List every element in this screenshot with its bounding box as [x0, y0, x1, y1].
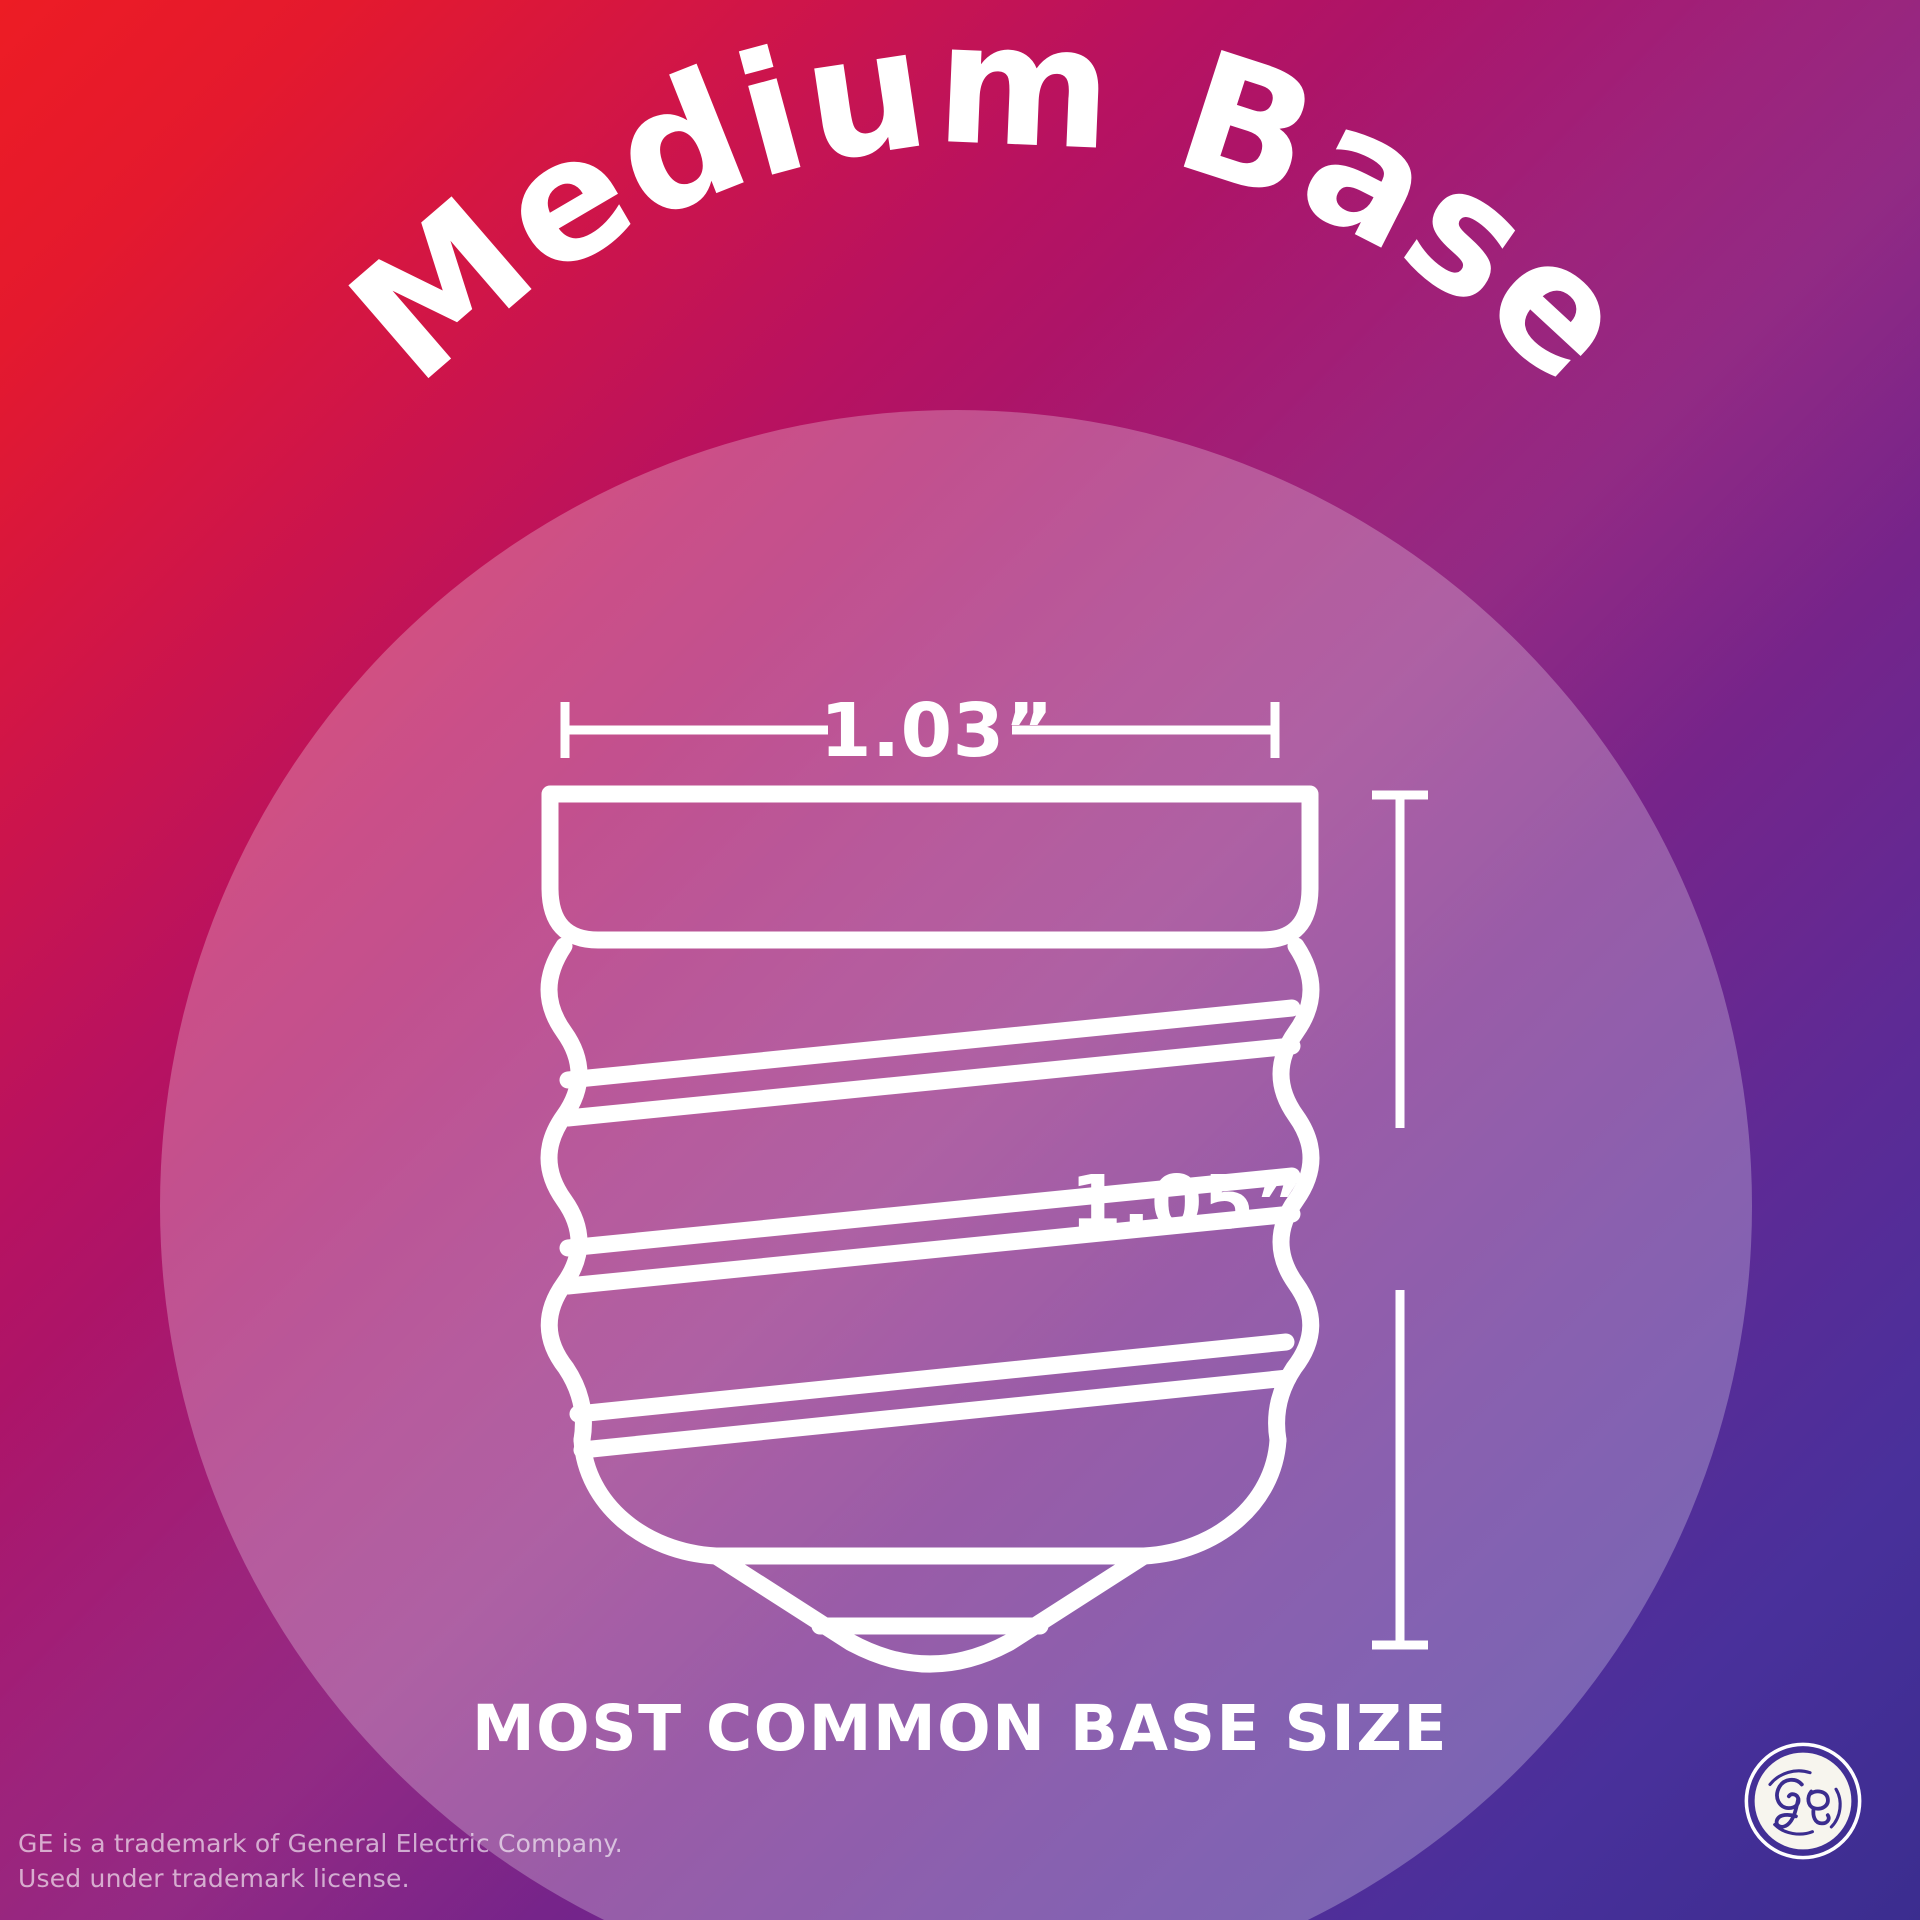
legal-line-1: GE is a trademark of General Electric Co… [18, 1827, 623, 1862]
screw-base-illustration [520, 780, 1340, 1680]
base-tip [716, 1556, 1144, 1664]
product-spec-graphic: Medium Base 1.03” 1.05” [0, 0, 1920, 1920]
thread-line-3b [582, 1378, 1288, 1450]
thread-line-2a [568, 1176, 1292, 1248]
base-shoulder [582, 1440, 1278, 1556]
thread-edge-right [1277, 946, 1311, 1440]
height-dimension-line [1370, 790, 1430, 1650]
width-dimension-label: 1.03” [820, 688, 1040, 774]
base-collar [550, 794, 1310, 940]
thread-line-1b [568, 1046, 1292, 1118]
thread-line-3a [578, 1342, 1286, 1414]
thread-line-2b [568, 1214, 1292, 1286]
legal-text: GE is a trademark of General Electric Co… [18, 1827, 623, 1896]
diagram-caption: MOST COMMON BASE SIZE [0, 1692, 1920, 1765]
thread-line-1a [568, 1008, 1292, 1080]
legal-line-2: Used under trademark license. [18, 1862, 623, 1897]
thread-edge-left [549, 946, 583, 1440]
ge-monogram-icon [1744, 1742, 1862, 1860]
